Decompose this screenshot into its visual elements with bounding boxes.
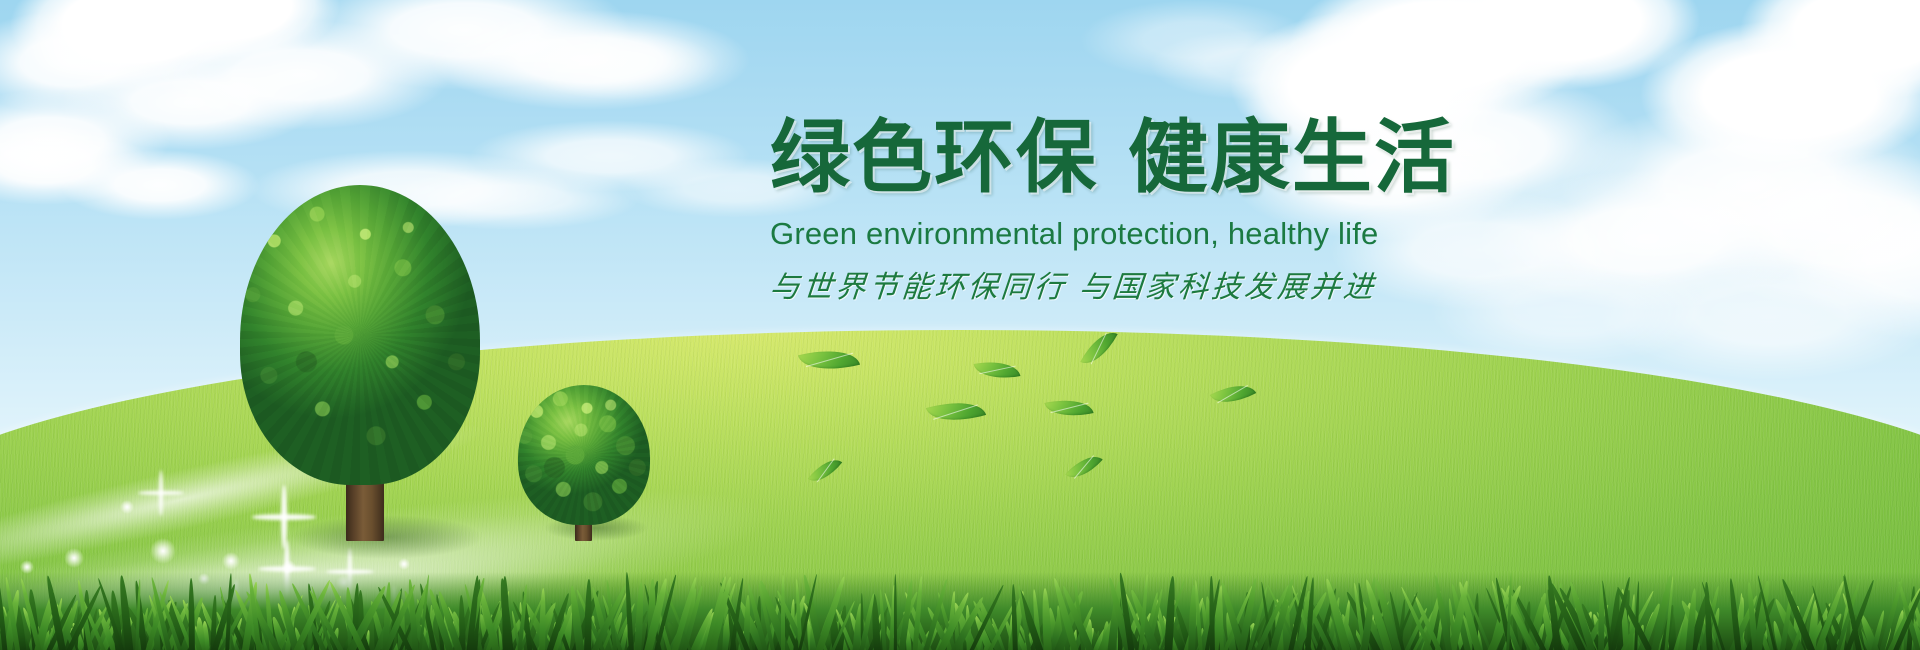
canopy-shading: [518, 385, 650, 525]
banner-copy: 绿色环保 健康生活 Green environmental protection…: [770, 118, 1530, 306]
eco-banner: 绿色环保 健康生活 Green environmental protection…: [0, 0, 1920, 650]
leaf-vein: [933, 404, 978, 419]
leaf-vein: [1050, 403, 1088, 413]
cloud-icon: [60, 150, 260, 220]
leaf-vein: [805, 353, 852, 367]
sparkle-dot: [120, 500, 134, 514]
subtitle-en: Green environmental protection, healthy …: [770, 216, 1530, 252]
leaf-vein: [979, 366, 1015, 375]
small-tree: [518, 385, 658, 550]
tree-shadow: [292, 515, 482, 559]
sparkle-dot: [150, 538, 176, 564]
grass-blade-strip: [0, 572, 1920, 650]
page-title: 绿色环保 健康生活: [770, 118, 1530, 198]
tree-canopy: [240, 185, 480, 485]
canopy-shading: [240, 185, 480, 485]
sparkle-dot: [64, 548, 84, 568]
cloud-icon: [520, 30, 720, 100]
slogan-cn: 与世界节能环保同行 与国家科技发展并进: [768, 262, 1532, 306]
sparkle-dot: [222, 552, 240, 570]
cloud-icon: [1080, 0, 1310, 80]
tree-canopy: [518, 385, 650, 525]
large-tree: [240, 185, 490, 560]
sparkle-star: [138, 470, 184, 516]
